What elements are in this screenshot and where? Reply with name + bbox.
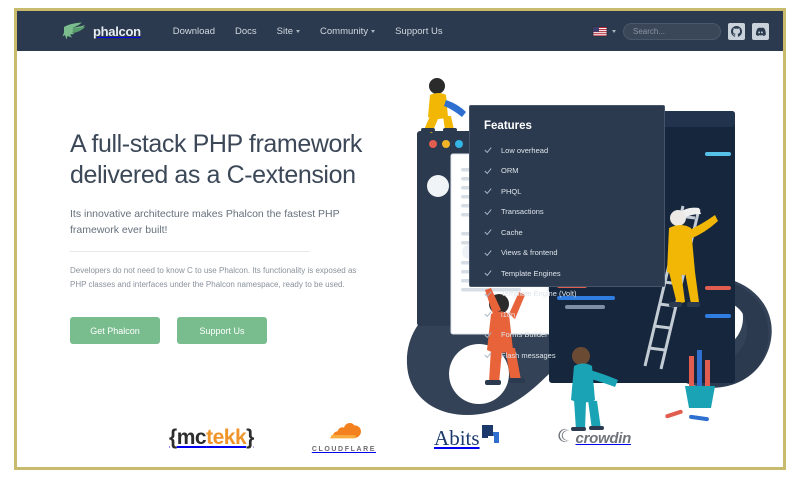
check-icon: [484, 203, 492, 221]
feature-item-template-engines: Template Engines: [484, 264, 664, 282]
top-navigation-bar: phalcon Download Docs Site Community Sup…: [17, 11, 783, 51]
check-icon: [484, 244, 492, 262]
cloud-icon: [324, 423, 364, 444]
feature-item-transactions: Transactions: [484, 203, 664, 221]
sponsor-cloudflare[interactable]: CLOUDFLARE: [312, 423, 376, 453]
mctekk-brace-close: }: [246, 426, 254, 449]
nav-item-download-label: Download: [173, 26, 215, 37]
cloudflare-wordmark: CLOUDFLARE: [312, 446, 376, 453]
feature-label: Template Engines: [501, 269, 561, 278]
nav-item-support-us-label: Support Us: [395, 26, 443, 37]
mctekk-brace-open: {: [169, 426, 177, 449]
hero-title-line2: delivered as a C-extension: [70, 161, 356, 189]
check-icon: [484, 182, 492, 200]
hero-cta-group: Get Phalcon Support Us: [70, 317, 400, 344]
chevron-down-icon: [371, 30, 375, 33]
check-icon: [484, 223, 492, 241]
cloudflare-logo: CLOUDFLARE: [312, 423, 376, 453]
nav-item-docs-label: Docs: [235, 26, 257, 37]
hero-text-block: A full-stack PHP framework delivered as …: [70, 129, 400, 344]
sponsor-logos-row: {mctekk} CLOUDFLARE Abits: [17, 409, 783, 467]
feature-label: Transactions: [501, 207, 544, 216]
discord-icon[interactable]: [752, 23, 769, 40]
sponsor-mctekk[interactable]: {mctekk}: [169, 426, 254, 450]
abits-mark-icon: [480, 425, 500, 451]
check-icon: [484, 264, 492, 282]
support-us-button[interactable]: Support Us: [177, 317, 267, 344]
feature-item-phql: PHQL: [484, 182, 664, 200]
check-icon: [484, 305, 492, 323]
nav-item-community[interactable]: Community: [320, 26, 375, 37]
feature-label: i18n: [501, 310, 515, 319]
feature-item-forms-builder: Forms Builder: [484, 326, 664, 344]
nav-item-support-us[interactable]: Support Us: [395, 26, 443, 37]
language-switcher[interactable]: [592, 26, 616, 37]
features-title: Features: [484, 120, 664, 132]
feature-label: Views & frontend: [501, 248, 558, 257]
brand-name: phalcon: [93, 24, 141, 39]
nav-item-site[interactable]: Site: [277, 26, 300, 37]
feature-item-flash-messages: Flash messages: [484, 346, 664, 364]
person-sitting-illustration: [421, 78, 466, 133]
page-content: phalcon Download Docs Site Community Sup…: [17, 11, 783, 467]
hero-body-text: Developers do not need to know C to use …: [70, 264, 370, 292]
mctekk-part2: tekk: [206, 426, 246, 449]
abits-wordmark: Abits: [434, 426, 480, 451]
feature-label: Template Engine (Volt): [501, 289, 576, 298]
navbar-right-controls: Search...: [592, 11, 769, 51]
nav-item-download[interactable]: Download: [173, 26, 215, 37]
get-phalcon-button[interactable]: Get Phalcon: [70, 317, 160, 344]
feature-label: ORM: [501, 166, 519, 175]
feature-item-template-engine-volt: Template Engine (Volt): [484, 285, 664, 303]
phalcon-bird-logo-icon: [62, 21, 88, 41]
feature-item-low-overhead: Low overhead: [484, 141, 664, 159]
us-flag-icon: [592, 26, 608, 37]
page-title: A full-stack PHP framework delivered as …: [70, 129, 400, 192]
sponsor-crowdin[interactable]: crowdin: [558, 428, 631, 448]
brand-logo-link[interactable]: phalcon: [62, 21, 141, 41]
sponsor-abits[interactable]: Abits: [434, 425, 500, 451]
chevron-down-icon: [612, 30, 616, 33]
hero-subtitle: Its innovative architecture makes Phalco…: [70, 206, 355, 239]
mctekk-part1: mc: [177, 426, 206, 449]
browser-page-frame: phalcon Download Docs Site Community Sup…: [14, 8, 786, 470]
check-icon: [484, 162, 492, 180]
feature-label: Low overhead: [501, 146, 548, 155]
feature-label: Forms Builder: [501, 330, 548, 339]
nav-links: Download Docs Site Community Support Us: [173, 26, 443, 37]
feature-label: Flash messages: [501, 351, 556, 360]
feature-item-views-frontend: Views & frontend: [484, 244, 664, 262]
search-input[interactable]: Search...: [623, 23, 721, 40]
hero-section: A full-stack PHP framework delivered as …: [17, 51, 783, 426]
mctekk-logo: {mctekk}: [169, 426, 254, 450]
feature-label: Cache: [501, 228, 523, 237]
hero-title-line1: A full-stack PHP framework: [70, 130, 362, 158]
crowdin-logo: crowdin: [558, 428, 631, 448]
crowdin-mark-icon: [558, 428, 573, 448]
abits-logo: Abits: [434, 425, 500, 451]
feature-item-cache: Cache: [484, 223, 664, 241]
nav-item-site-label: Site: [277, 26, 293, 37]
chevron-down-icon: [296, 30, 300, 33]
nav-item-community-label: Community: [320, 26, 368, 37]
github-icon[interactable]: [728, 23, 745, 40]
check-icon: [484, 285, 492, 303]
search-placeholder: Search...: [633, 27, 665, 36]
feature-item-i18n: i18n: [484, 305, 664, 323]
check-icon: [484, 141, 492, 159]
crowdin-wordmark: crowdin: [576, 430, 631, 447]
features-panel: Features Low overhead ORM PHQL Transacti…: [469, 105, 665, 287]
check-icon: [484, 346, 492, 364]
feature-item-orm: ORM: [484, 162, 664, 180]
feature-label: PHQL: [501, 187, 521, 196]
nav-item-docs[interactable]: Docs: [235, 26, 257, 37]
check-icon: [484, 326, 492, 344]
divider: [70, 251, 310, 252]
